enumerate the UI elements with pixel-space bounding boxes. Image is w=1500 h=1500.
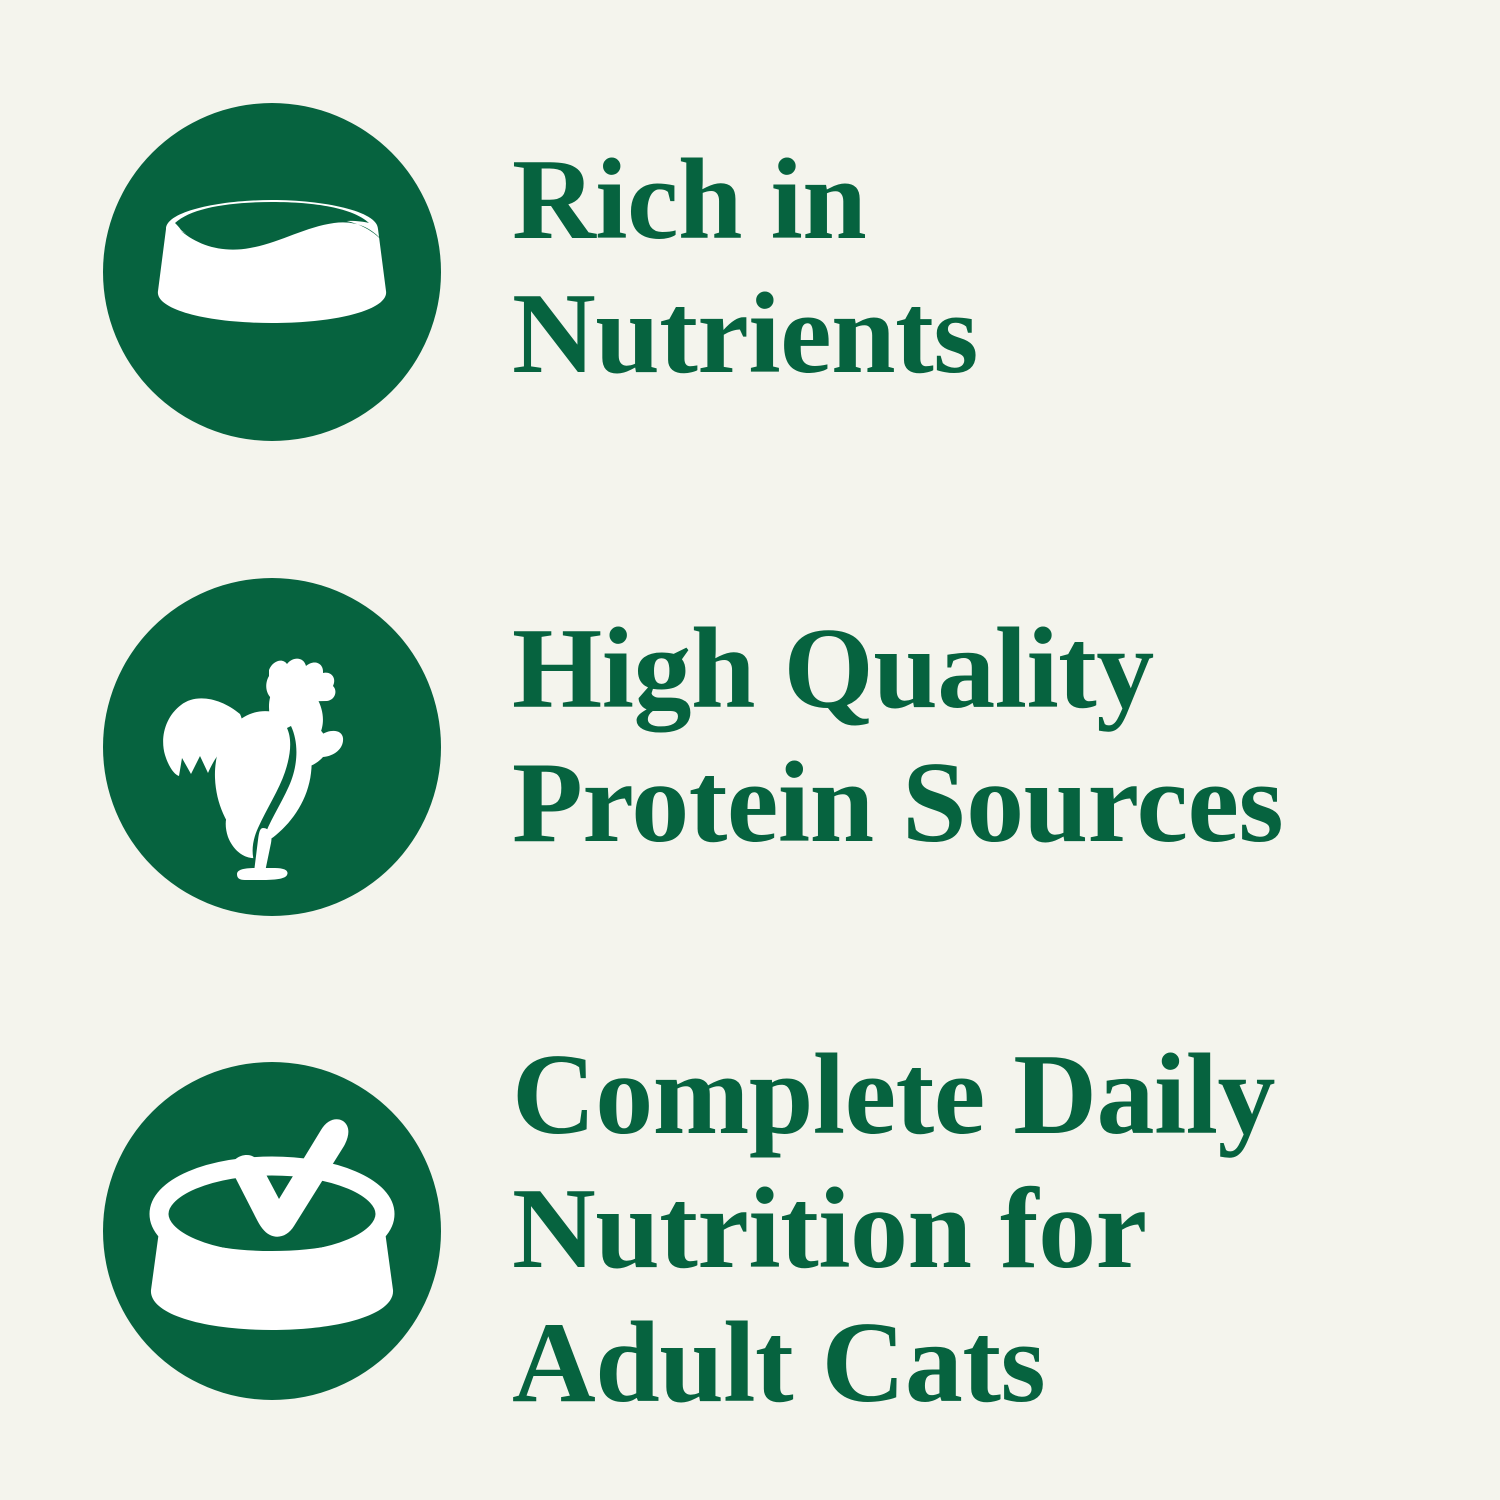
bowl-with-checkmark-icon [103, 1062, 441, 1400]
benefit-label: High Quality Protein Sources [512, 578, 1500, 870]
benefits-panel: Rich in Nutrients [0, 0, 1500, 1500]
benefit-row: Complete Daily Nutrition for Adult Cats [0, 1062, 1500, 1430]
benefit-label: Complete Daily Nutrition for Adult Cats [512, 1028, 1500, 1430]
food-bowl-full-icon [103, 103, 441, 441]
rooster-icon [103, 578, 441, 916]
benefit-label: Rich in Nutrients [512, 103, 1500, 401]
benefit-row: High Quality Protein Sources [0, 578, 1500, 916]
benefit-row: Rich in Nutrients [0, 103, 1500, 441]
